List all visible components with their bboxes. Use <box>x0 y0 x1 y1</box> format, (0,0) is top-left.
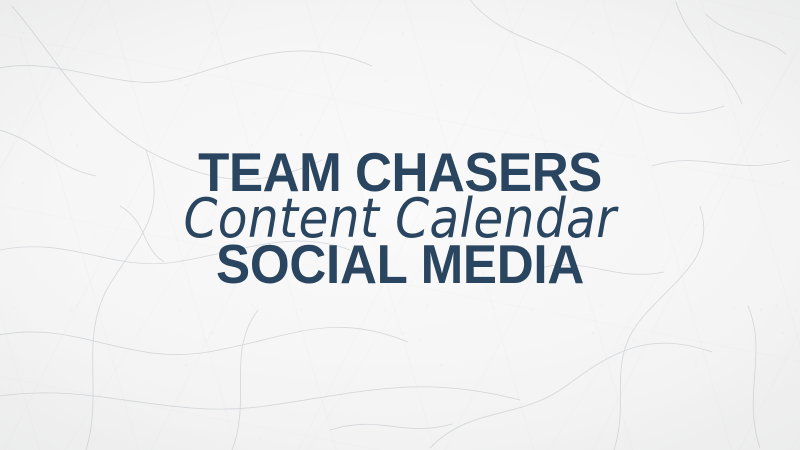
title-line-social-media: SOCIAL MEDIA <box>28 240 772 289</box>
title-card-canvas: TEAM CHASERS Content Calendar SOCIAL MED… <box>0 0 800 450</box>
title-lockup: TEAM CHASERS Content Calendar SOCIAL MED… <box>0 148 800 289</box>
